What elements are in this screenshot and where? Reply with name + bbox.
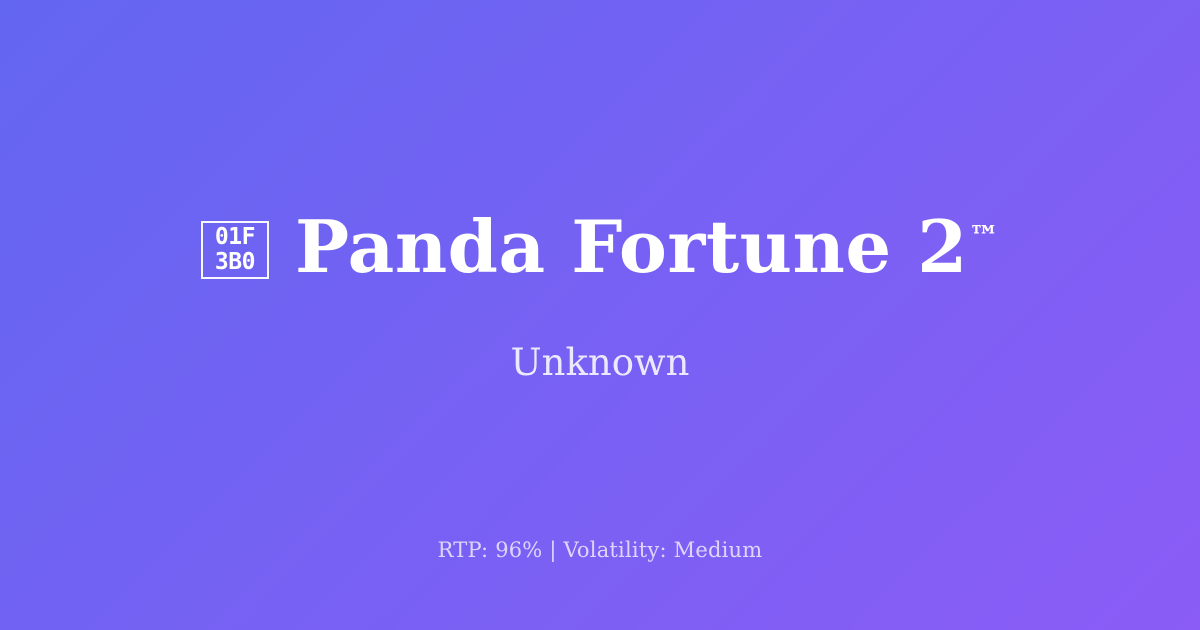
og-share-card: 01F 3B0 Panda Fortune 2™ Unknown RTP: 96… [0, 0, 1200, 630]
card-center-block: 01F 3B0 Panda Fortune 2™ Unknown [0, 210, 1200, 384]
card-footer: RTP: 96% | Volatility: Medium [0, 538, 1200, 562]
page-title-text: Panda Fortune 2 [295, 204, 968, 289]
page-title: Panda Fortune 2™ [295, 210, 999, 285]
trademark-symbol: ™ [969, 220, 999, 255]
card-subtitle: Unknown [510, 285, 689, 384]
slot-machine-tofu-icon: 01F 3B0 [201, 221, 269, 279]
title-row: 01F 3B0 Panda Fortune 2™ [201, 210, 999, 285]
tofu-codepoint-bottom: 3B0 [215, 250, 255, 275]
tofu-codepoint-top: 01F [215, 225, 255, 250]
game-stats-meta: RTP: 96% | Volatility: Medium [438, 538, 763, 562]
